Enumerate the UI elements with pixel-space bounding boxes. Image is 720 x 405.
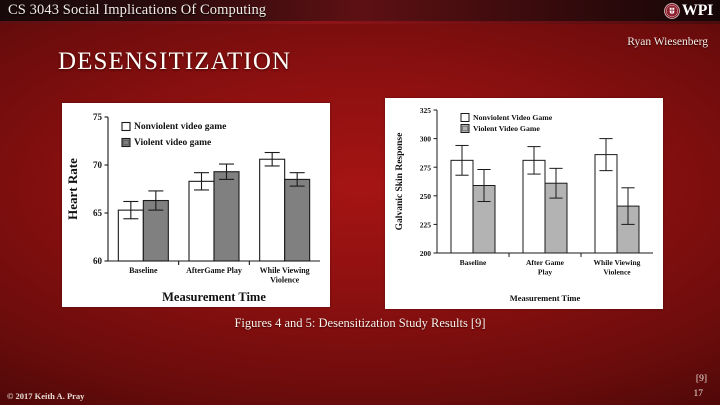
figure-4-svg: 60657075Heart RateBaselineAfterGame Play… xyxy=(62,103,330,307)
copyright-notice: © 2017 Keith A. Pray xyxy=(7,391,84,401)
page-title: DESENSITIZATION xyxy=(58,48,291,76)
wpi-logo: WPI xyxy=(664,1,713,20)
svg-text:300: 300 xyxy=(420,135,432,144)
slide-header-bar: CS 3043 Social Implications Of Computing… xyxy=(0,0,720,22)
svg-text:60: 60 xyxy=(93,256,103,266)
svg-text:While Viewing: While Viewing xyxy=(260,266,310,275)
figure-5-svg: 200225250275300325Galvanic Skin Response… xyxy=(385,98,663,309)
svg-text:While Viewing: While Viewing xyxy=(594,258,641,267)
wpi-seal-icon xyxy=(664,3,680,19)
slide-number: 17 xyxy=(694,389,704,399)
svg-text:Violence: Violence xyxy=(270,276,299,285)
svg-text:Measurement Time: Measurement Time xyxy=(162,290,266,304)
svg-text:275: 275 xyxy=(420,163,432,172)
svg-text:Measurement Time: Measurement Time xyxy=(510,293,581,303)
svg-text:75: 75 xyxy=(93,112,103,122)
svg-text:Violent Video Game: Violent Video Game xyxy=(473,124,540,133)
figure-4-chart: 60657075Heart RateBaselineAfterGame Play… xyxy=(62,103,330,307)
svg-text:Play: Play xyxy=(538,268,552,277)
svg-text:200: 200 xyxy=(420,249,432,258)
svg-text:Baseline: Baseline xyxy=(129,266,158,275)
svg-text:Baseline: Baseline xyxy=(460,258,487,267)
svg-text:Heart Rate: Heart Rate xyxy=(65,158,80,220)
svg-text:65: 65 xyxy=(93,208,103,218)
slide-canvas: CS 3043 Social Implications Of Computing… xyxy=(0,0,720,405)
course-title: CS 3043 Social Implications Of Computing xyxy=(8,2,266,19)
figure-5-chart: 200225250275300325Galvanic Skin Response… xyxy=(385,98,663,309)
wpi-wordmark: WPI xyxy=(682,3,713,19)
svg-text:Nonviolent video game: Nonviolent video game xyxy=(134,122,226,132)
reference-marker: [9] xyxy=(696,374,707,384)
figure-caption: Figures 4 and 5: Desensitization Study R… xyxy=(0,316,720,331)
svg-text:After Game: After Game xyxy=(526,258,565,267)
svg-text:325: 325 xyxy=(420,106,432,115)
svg-text:Violence: Violence xyxy=(603,268,631,277)
svg-text:AfterGame Play: AfterGame Play xyxy=(186,266,242,275)
svg-text:Violent video game: Violent video game xyxy=(134,138,211,148)
svg-text:70: 70 xyxy=(93,160,103,170)
svg-text:Galvanic Skin Response: Galvanic Skin Response xyxy=(395,133,405,231)
svg-text:Nonviolent Video Game: Nonviolent Video Game xyxy=(473,113,553,122)
author-name: Ryan Wiesenberg xyxy=(627,36,708,48)
svg-text:250: 250 xyxy=(420,192,432,201)
svg-text:225: 225 xyxy=(420,221,432,230)
